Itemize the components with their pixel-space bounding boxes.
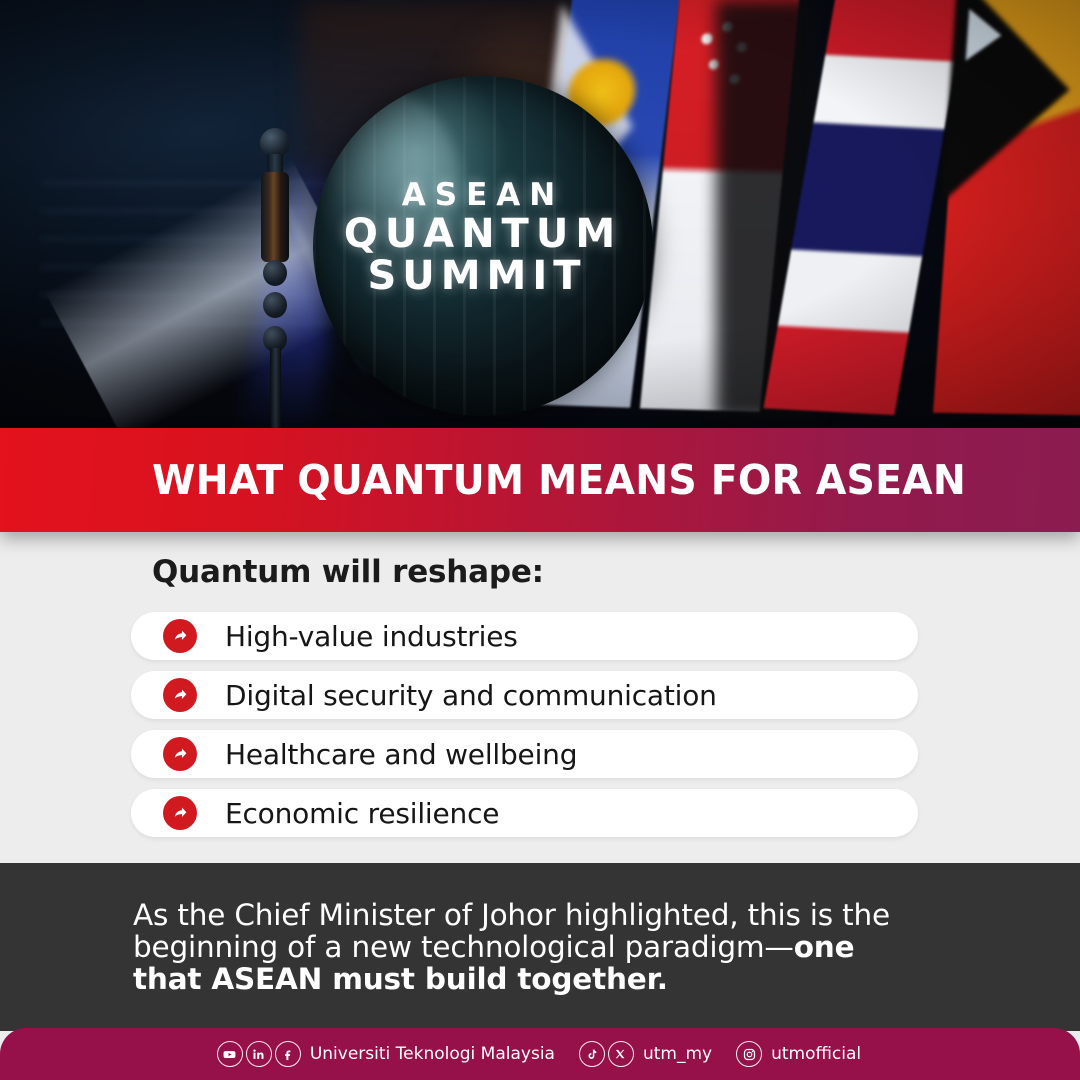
social-group-main: Universiti Teknologi Malaysia	[217, 1041, 557, 1067]
social-footer: Universiti Teknologi Malaysia utm_my	[0, 1028, 1080, 1080]
list-item[interactable]: High-value industries	[131, 612, 918, 660]
facebook-icon[interactable]	[275, 1041, 301, 1067]
list-heading: Quantum will reshape:	[152, 554, 544, 590]
list-item[interactable]: Economic resilience	[131, 789, 918, 837]
hero-vignette	[0, 0, 1080, 432]
arrow-forward-icon	[163, 619, 197, 653]
page-title: WHAT QUANTUM MEANS FOR ASEAN	[152, 456, 966, 504]
arrow-forward-icon	[163, 737, 197, 771]
list-item[interactable]: Digital security and communication	[131, 671, 918, 719]
linkedin-icon[interactable]	[246, 1041, 272, 1067]
list-section: Quantum will reshape: High-value industr…	[0, 532, 1080, 863]
benefit-list: High-value industries Digital security a…	[131, 612, 918, 848]
poster-canvas: ASEAN QUANTUM SUMMIT WHAT QUANTUM MEANS …	[0, 0, 1080, 1080]
list-item-label: Economic resilience	[225, 797, 499, 830]
title-banner: WHAT QUANTUM MEANS FOR ASEAN	[0, 428, 1080, 532]
social-group-utm-my: utm_my	[579, 1041, 714, 1067]
social-group-utmofficial: utmofficial	[736, 1041, 863, 1067]
social-handle-utmofficial: utmofficial	[771, 1044, 861, 1064]
quote-paragraph: As the Chief Minister of Johor highlight…	[133, 899, 923, 995]
instagram-icon[interactable]	[736, 1041, 762, 1067]
list-item[interactable]: Healthcare and wellbeing	[131, 730, 918, 778]
list-item-label: Healthcare and wellbeing	[225, 738, 577, 771]
quote-section: As the Chief Minister of Johor highlight…	[0, 863, 1080, 1031]
tiktok-icon[interactable]	[579, 1041, 605, 1067]
x-icon[interactable]	[608, 1041, 634, 1067]
youtube-icon[interactable]	[217, 1041, 243, 1067]
arrow-forward-icon	[163, 796, 197, 830]
social-handle-main: Universiti Teknologi Malaysia	[310, 1044, 555, 1064]
social-handle-utm-my: utm_my	[643, 1044, 712, 1064]
list-item-label: High-value industries	[225, 620, 518, 653]
arrow-forward-icon	[163, 678, 197, 712]
list-item-label: Digital security and communication	[225, 679, 717, 712]
hero-image: ASEAN QUANTUM SUMMIT	[0, 0, 1080, 432]
quote-regular-text: As the Chief Minister of Johor highlight…	[133, 898, 890, 964]
